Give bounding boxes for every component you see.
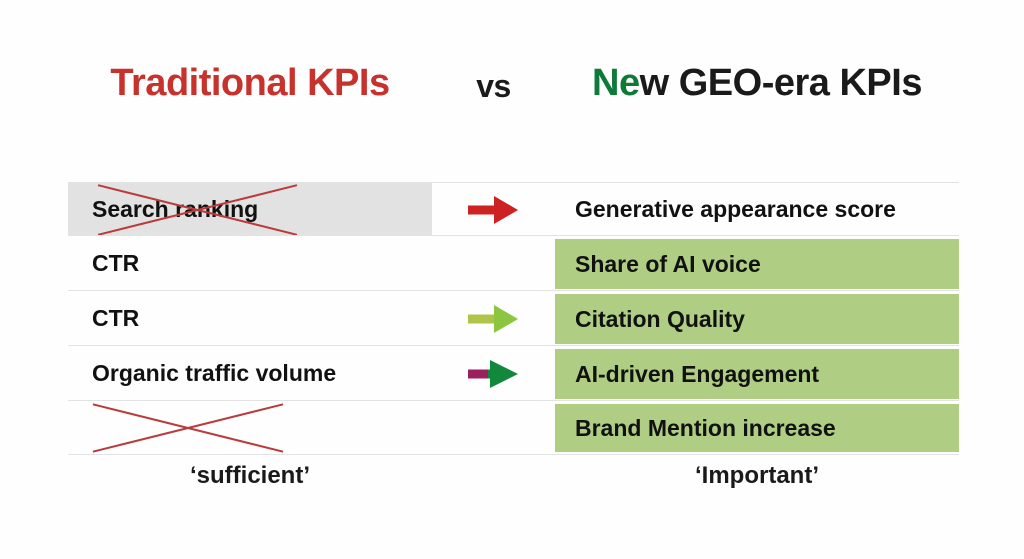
traditional-kpi-label: Search ranking <box>92 196 258 223</box>
traditional-kpi-cell[interactable] <box>68 401 432 454</box>
new-kpi-cell[interactable]: Citation Quality <box>555 294 959 344</box>
transition-arrow-cell <box>432 183 555 236</box>
red-arrow-icon <box>468 195 520 225</box>
dark-green-arrow-icon <box>468 359 520 389</box>
new-kpi-label: Generative appearance score <box>575 195 896 223</box>
traditional-kpi-cell[interactable]: CTR <box>68 236 432 291</box>
versus-label: vs <box>432 68 555 105</box>
table-row: Search ranking Generative appearance sco… <box>68 182 959 236</box>
traditional-kpi-label: CTR <box>92 250 139 277</box>
table-row: Organic traffic volume AI-driven Engagem… <box>68 345 959 401</box>
table-row: CTR Citation Quality <box>68 290 959 346</box>
kpi-comparison-table: Search ranking Generative appearance sco… <box>68 182 959 453</box>
transition-arrow-cell <box>432 346 555 401</box>
page-title-rest: w GEO-era KPIs <box>640 62 922 104</box>
footer-label-new: ‘Important’ <box>555 462 959 504</box>
traditional-kpi-label: CTR <box>92 305 139 332</box>
transition-arrow-cell <box>432 401 555 454</box>
slide-canvas: Traditional KPIs vs New GEO-era KPIs Sea… <box>0 0 1024 559</box>
page-title-new-geo: New GEO-era KPIs <box>555 62 959 105</box>
traditional-kpi-cell[interactable]: Organic traffic volume <box>68 346 432 401</box>
light-green-arrow-icon <box>468 304 520 334</box>
header-row: Traditional KPIs vs New GEO-era KPIs <box>0 62 1024 128</box>
new-kpi-cell[interactable]: Brand Mention increase <box>555 404 959 452</box>
traditional-kpi-label: Organic traffic volume <box>92 360 336 387</box>
new-kpi-cell[interactable]: Share of AI voice <box>555 239 959 289</box>
transition-arrow-cell <box>432 236 555 291</box>
new-kpi-label: Brand Mention increase <box>575 414 836 442</box>
traditional-kpi-cell[interactable]: Search ranking <box>68 183 432 236</box>
new-kpi-label: Citation Quality <box>575 305 745 333</box>
page-title-accent: Ne <box>592 62 640 104</box>
new-kpi-label: Share of AI voice <box>575 250 761 278</box>
table-row: Brand Mention increase <box>68 400 959 455</box>
page-title-traditional: Traditional KPIs <box>68 62 432 105</box>
table-row: CTR Share of AI voice <box>68 235 959 291</box>
transition-arrow-cell <box>432 291 555 346</box>
footer-label-traditional: ‘sufficient’ <box>68 462 432 504</box>
new-kpi-cell[interactable]: Generative appearance score <box>555 183 959 236</box>
new-kpi-label: AI-driven Engagement <box>575 360 819 388</box>
traditional-kpi-cell[interactable]: CTR <box>68 291 432 346</box>
new-kpi-cell[interactable]: AI-driven Engagement <box>555 349 959 399</box>
